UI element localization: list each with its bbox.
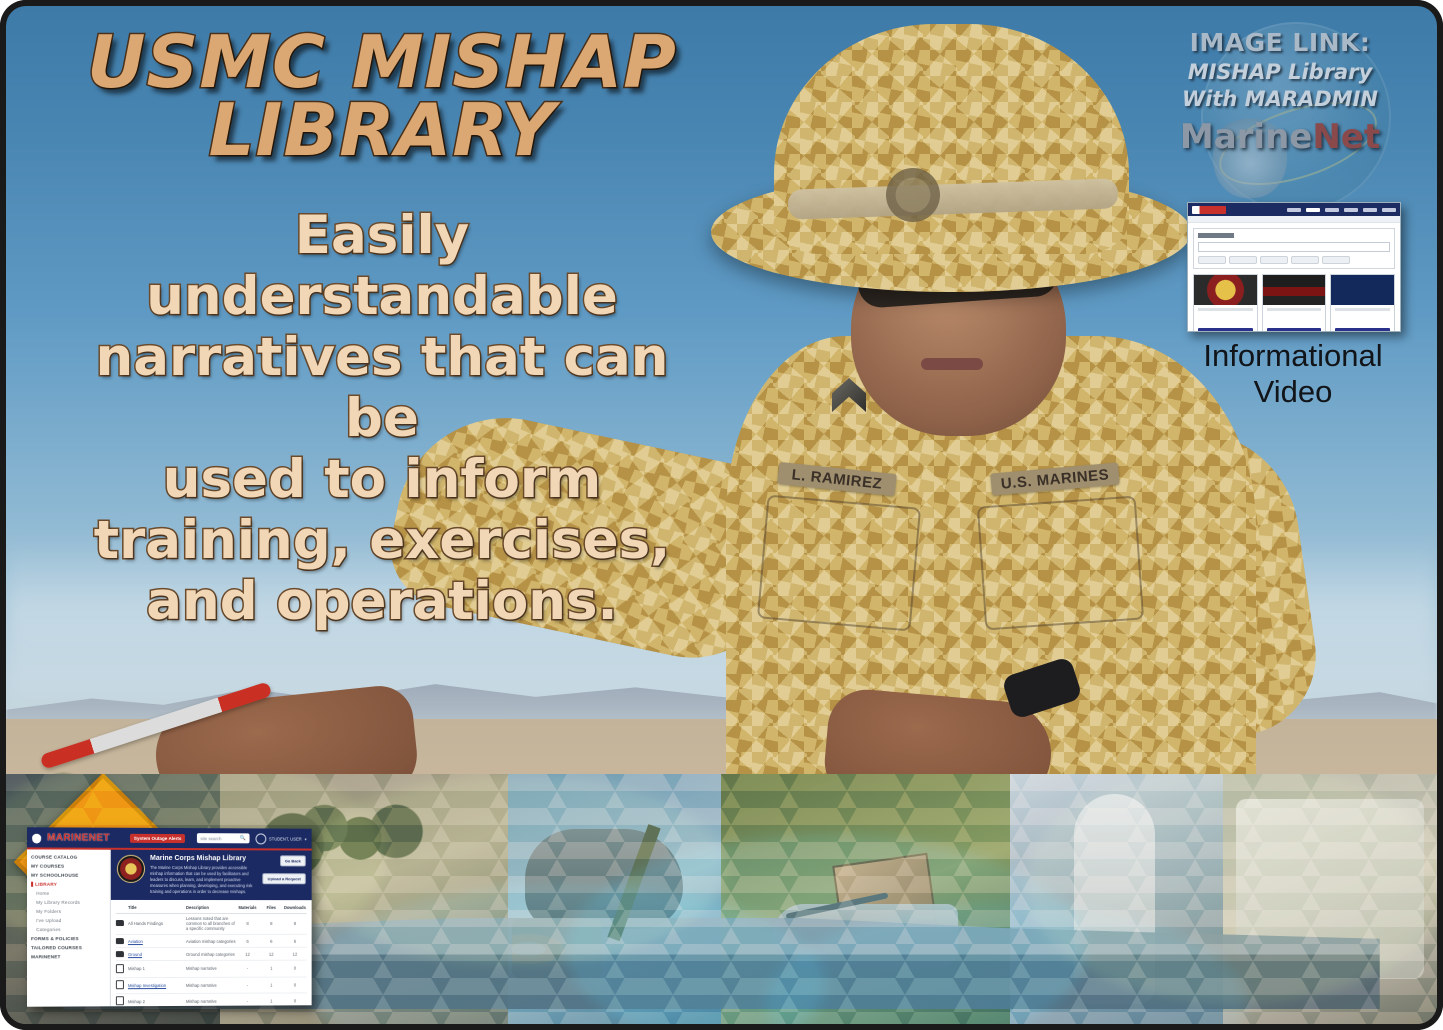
row-title: All Hands Findings <box>128 921 186 926</box>
row-downloads: 0 <box>283 966 307 971</box>
page-title: USMC MISHAP LIBRARY <box>52 28 712 165</box>
thumbnail-card-3-button <box>1335 328 1390 332</box>
thumbnail-card-1-button <box>1198 328 1253 332</box>
row-title[interactable]: Mishap Investigation <box>128 983 186 988</box>
row-title: Mishap 1 <box>128 966 186 971</box>
thumbnail-body <box>1188 223 1400 332</box>
thumbnail-filter-chips <box>1198 256 1390 264</box>
image-link-line-3: With MARADMIN <box>1155 87 1405 111</box>
sidebar-item-library[interactable]: LIBRARY <box>31 882 106 887</box>
app-main: COURSE CATALOG MY COURSES MY SCHOOLHOUSE… <box>27 849 312 1006</box>
app-search-input[interactable]: site search 🔍 <box>197 833 249 843</box>
app-eagle-globe-anchor-icon <box>32 831 41 844</box>
row-description: Ground mishap categories <box>186 952 236 957</box>
thumbnail-nav-my-learning <box>1287 208 1301 212</box>
marinenet-wordmark-second: Net <box>1312 117 1380 157</box>
image-link-line-2: MISHAP Library <box>1155 60 1405 84</box>
app-header: MARINENET System Outage Alerts site sear… <box>27 827 312 848</box>
title-line-1: USMC MISHAP <box>52 28 712 96</box>
image-link-heading: IMAGE LINK: <box>1155 28 1405 57</box>
table-header-description: Description <box>186 905 236 910</box>
marine-mouth <box>921 358 983 370</box>
thumbnail-chip-5 <box>1322 256 1350 264</box>
thumbnail-nav-catalog <box>1306 208 1320 212</box>
boonie-hat-crown <box>774 24 1129 254</box>
image-link-badge[interactable]: IMAGE LINK: MISHAP Library With MARADMIN… <box>1155 28 1405 157</box>
row-downloads: 0 <box>283 998 307 1003</box>
row-title[interactable]: Ground <box>128 952 186 957</box>
row-files: 8 <box>259 921 283 926</box>
app-user-label: STUDENT, USER <box>269 836 302 841</box>
sidebar-item-my-library-records[interactable]: My Library Records <box>31 900 106 905</box>
sidebar-item-marinenet[interactable]: MARINENET <box>31 954 106 959</box>
table-header-row: Title Description Materials Files Downlo… <box>116 903 307 914</box>
row-materials: 8 <box>236 921 260 926</box>
table-row[interactable]: Ground Ground mishap categories 12 12 12 <box>116 948 307 962</box>
row-description: Lessons noted that are common to all bra… <box>186 916 236 931</box>
row-description: Mishap narrative <box>186 982 236 987</box>
poster-canvas: L. RAMIREZ U.S. MARINES USMC MISHAP LIBR… <box>6 6 1437 1024</box>
thumbnail-card-3-image <box>1331 275 1394 305</box>
row-description: Mishap narrative <box>186 999 236 1004</box>
marinenet-wordmark-first: Marine <box>1180 117 1312 157</box>
row-materials: 6 <box>236 938 260 943</box>
marinenet-library-screenshot[interactable]: MARINENET System Outage Alerts site sear… <box>27 827 312 1006</box>
thumbnail-catalog-panel <box>1193 228 1395 269</box>
thumbnail-card-1-line <box>1198 308 1253 311</box>
row-downloads: 0 <box>283 982 307 987</box>
row-description: Aviation mishap categories <box>186 938 236 943</box>
library-hero-text: Marine Corps Mishap Library The Marine C… <box>150 855 258 895</box>
sidebar-item-categories[interactable]: Categories <box>31 927 106 932</box>
row-materials: 12 <box>236 952 260 957</box>
chevron-down-icon[interactable]: ▾ <box>305 836 307 841</box>
thumbnail-card-3 <box>1330 274 1395 332</box>
sidebar-item-course-catalog[interactable]: COURSE CATALOG <box>31 854 106 859</box>
catalog-screenshot-thumbnail[interactable] <box>1187 202 1401 332</box>
app-search-placeholder: site search <box>200 836 221 841</box>
subtitle-line-3: used to inform <box>52 450 712 511</box>
thumbnail-card-2 <box>1262 274 1327 332</box>
row-materials: - <box>236 982 260 987</box>
table-header-files: Files <box>259 905 283 910</box>
thumbnail-nav-tools <box>1325 208 1339 212</box>
row-materials: - <box>236 966 260 971</box>
row-materials: - <box>236 998 260 1003</box>
folder-icon <box>116 951 128 958</box>
row-files: 12 <box>259 952 283 957</box>
thumbnail-chip-2 <box>1229 256 1257 264</box>
sidebar-item-tailored-courses[interactable]: TAILORED COURSES <box>31 945 106 950</box>
video-label-line-2: Video <box>1187 374 1399 410</box>
table-row[interactable]: Aviation Aviation mishap categories 6 6 … <box>116 935 307 948</box>
file-icon <box>116 997 128 1007</box>
row-files: 1 <box>259 982 283 987</box>
sidebar-item-my-folders[interactable]: My Folders <box>31 909 106 914</box>
marinenet-wordmark: MarineNet <box>1155 117 1405 157</box>
sidebar-item-forms-policies[interactable]: FORMS & POLICIES <box>31 936 106 941</box>
thumbnail-result-cards <box>1193 274 1395 332</box>
thumbnail-card-2-button <box>1267 328 1322 332</box>
row-description: Mishap narrative <box>186 966 236 971</box>
video-label-line-1: Informational <box>1187 338 1399 374</box>
table-header-downloads: Downloads <box>283 905 307 910</box>
library-table: Title Description Materials Files Downlo… <box>111 900 312 1007</box>
usmc-mishap-library-poster: L. RAMIREZ U.S. MARINES USMC MISHAP LIBR… <box>0 0 1443 1030</box>
table-row[interactable]: Mishap 2 Mishap narrative - 1 0 <box>116 993 307 1007</box>
thumbnail-chip-3 <box>1260 256 1288 264</box>
table-header-materials: Materials <box>236 905 260 910</box>
thumbnail-search-field <box>1198 242 1390 252</box>
library-hero-banner: Marine Corps Mishap Library The Marine C… <box>111 850 312 900</box>
eagle-globe-anchor-icon <box>886 168 940 222</box>
app-brand-wordmark: MARINENET <box>47 832 110 843</box>
thumbnail-card-2-line <box>1267 308 1322 311</box>
app-user-menu[interactable]: STUDENT, USER ▾ <box>255 833 307 844</box>
library-description: The Marine Corps Mishap Library provides… <box>150 865 258 895</box>
thumbnail-nav-communities <box>1344 208 1358 212</box>
avatar <box>255 833 266 844</box>
usmc-seal-icon <box>117 855 145 883</box>
page-subtitle: Easily understandable narratives that ca… <box>52 206 712 633</box>
row-title[interactable]: Aviation <box>128 939 186 944</box>
row-title: Mishap 2 <box>128 999 186 1004</box>
title-line-2: LIBRARY <box>52 96 712 164</box>
informational-video-label: Informational Video <box>1187 338 1399 409</box>
sidebar-item-home[interactable]: Home <box>31 891 106 896</box>
thumbnail-chip-4 <box>1291 256 1319 264</box>
row-files: 6 <box>259 938 283 943</box>
thumbnail-card-3-line <box>1335 308 1390 311</box>
table-row[interactable]: Mishap Investigation Mishap narrative - … <box>116 977 307 994</box>
row-downloads: 6 <box>283 938 307 943</box>
row-downloads: 12 <box>283 951 307 956</box>
thumbnail-top-nav <box>1188 203 1400 216</box>
subtitle-line-2: narratives that can be <box>52 328 712 450</box>
marine-left-pocket <box>757 495 921 632</box>
subtitle-line-4: training, exercises, <box>52 511 712 572</box>
thumbnail-chip-1 <box>1198 256 1226 264</box>
sidebar-item-ive-upload[interactable]: I've Upload <box>31 918 106 923</box>
app-sidebar: COURSE CATALOG MY COURSES MY SCHOOLHOUSE… <box>27 849 111 1006</box>
go-back-button[interactable]: Go Back <box>280 855 306 866</box>
thumbnail-card-1-image <box>1194 275 1257 305</box>
row-files: 1 <box>259 998 283 1003</box>
upload-request-button[interactable]: Upload a Request <box>263 873 306 884</box>
library-hero-buttons: Go Back Upload a Request <box>263 855 306 894</box>
file-icon <box>116 964 128 974</box>
table-row[interactable]: Mishap 1 Mishap narrative - 1 0 <box>116 961 307 978</box>
library-title: Marine Corps Mishap Library <box>150 855 258 862</box>
system-outage-alerts-button[interactable]: System Outage Alerts <box>130 833 186 842</box>
row-downloads: 8 <box>283 921 307 926</box>
sidebar-item-my-schoolhouse[interactable]: MY SCHOOLHOUSE <box>31 873 106 878</box>
marine-right-pocket <box>977 496 1144 631</box>
thumbnail-breadcrumb <box>1188 216 1400 223</box>
thumbnail-nav-resources <box>1363 208 1377 212</box>
subtitle-line-5: and operations. <box>52 572 712 633</box>
file-icon <box>116 980 128 990</box>
thumbnail-nav-help <box>1382 208 1396 212</box>
thumbnail-marinenet-logo-icon <box>1192 206 1226 214</box>
sidebar-item-my-courses[interactable]: MY COURSES <box>31 864 106 869</box>
table-header-title: Title <box>128 905 186 910</box>
thumbnail-nav-items <box>1287 208 1396 212</box>
thumbnail-card-1 <box>1193 274 1258 332</box>
thumbnail-card-2-image <box>1263 275 1326 305</box>
subtitle-line-1: Easily understandable <box>52 206 712 328</box>
search-icon[interactable]: 🔍 <box>240 835 246 841</box>
thumbnail-catalog-label <box>1198 233 1234 238</box>
app-content: Marine Corps Mishap Library The Marine C… <box>111 850 312 1007</box>
folder-icon <box>116 920 128 927</box>
row-files: 1 <box>259 966 283 971</box>
table-row[interactable]: All Hands Findings Lessons noted that ar… <box>116 914 307 935</box>
folder-icon <box>116 938 128 945</box>
